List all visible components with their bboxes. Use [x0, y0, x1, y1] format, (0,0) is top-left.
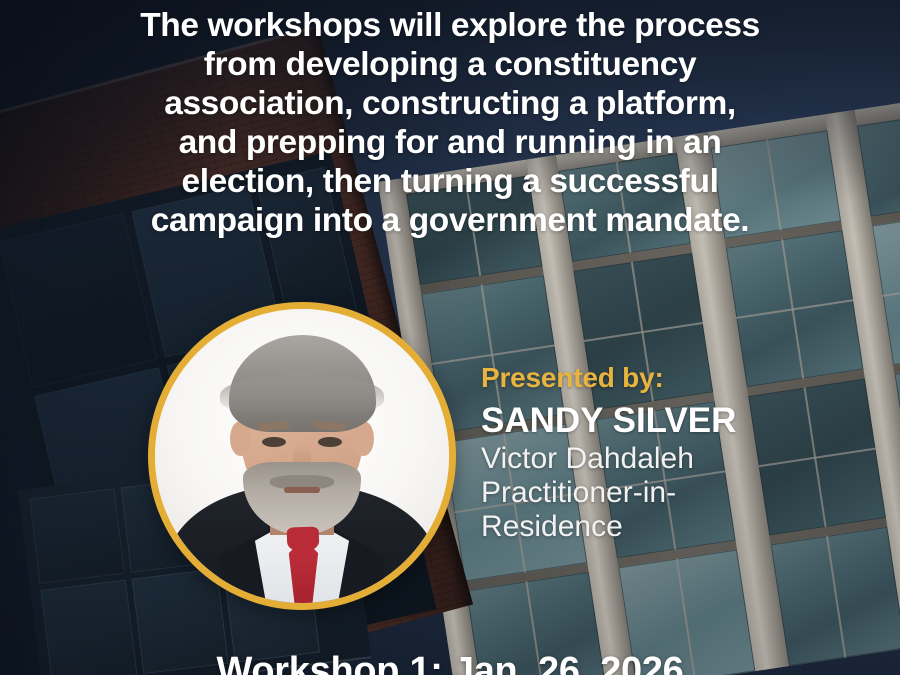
presenter-avatar: [148, 302, 456, 610]
presenter-block: Presented by: SANDY SILVER Victor Dahdal…: [481, 361, 881, 544]
workshop-date-line: Workshop 1: Jan. 26, 2026: [0, 648, 900, 675]
presenter-photo: [155, 309, 449, 603]
presenter-name: SANDY SILVER: [481, 400, 881, 441]
headline-text: The workshops will explore the process f…: [0, 6, 900, 240]
promo-poster: MULRONEY HALL The workshops will e: [0, 0, 900, 675]
presenter-title: Victor Dahdaleh Practitioner-in- Residen…: [481, 442, 881, 544]
presented-by-label: Presented by:: [481, 361, 881, 395]
